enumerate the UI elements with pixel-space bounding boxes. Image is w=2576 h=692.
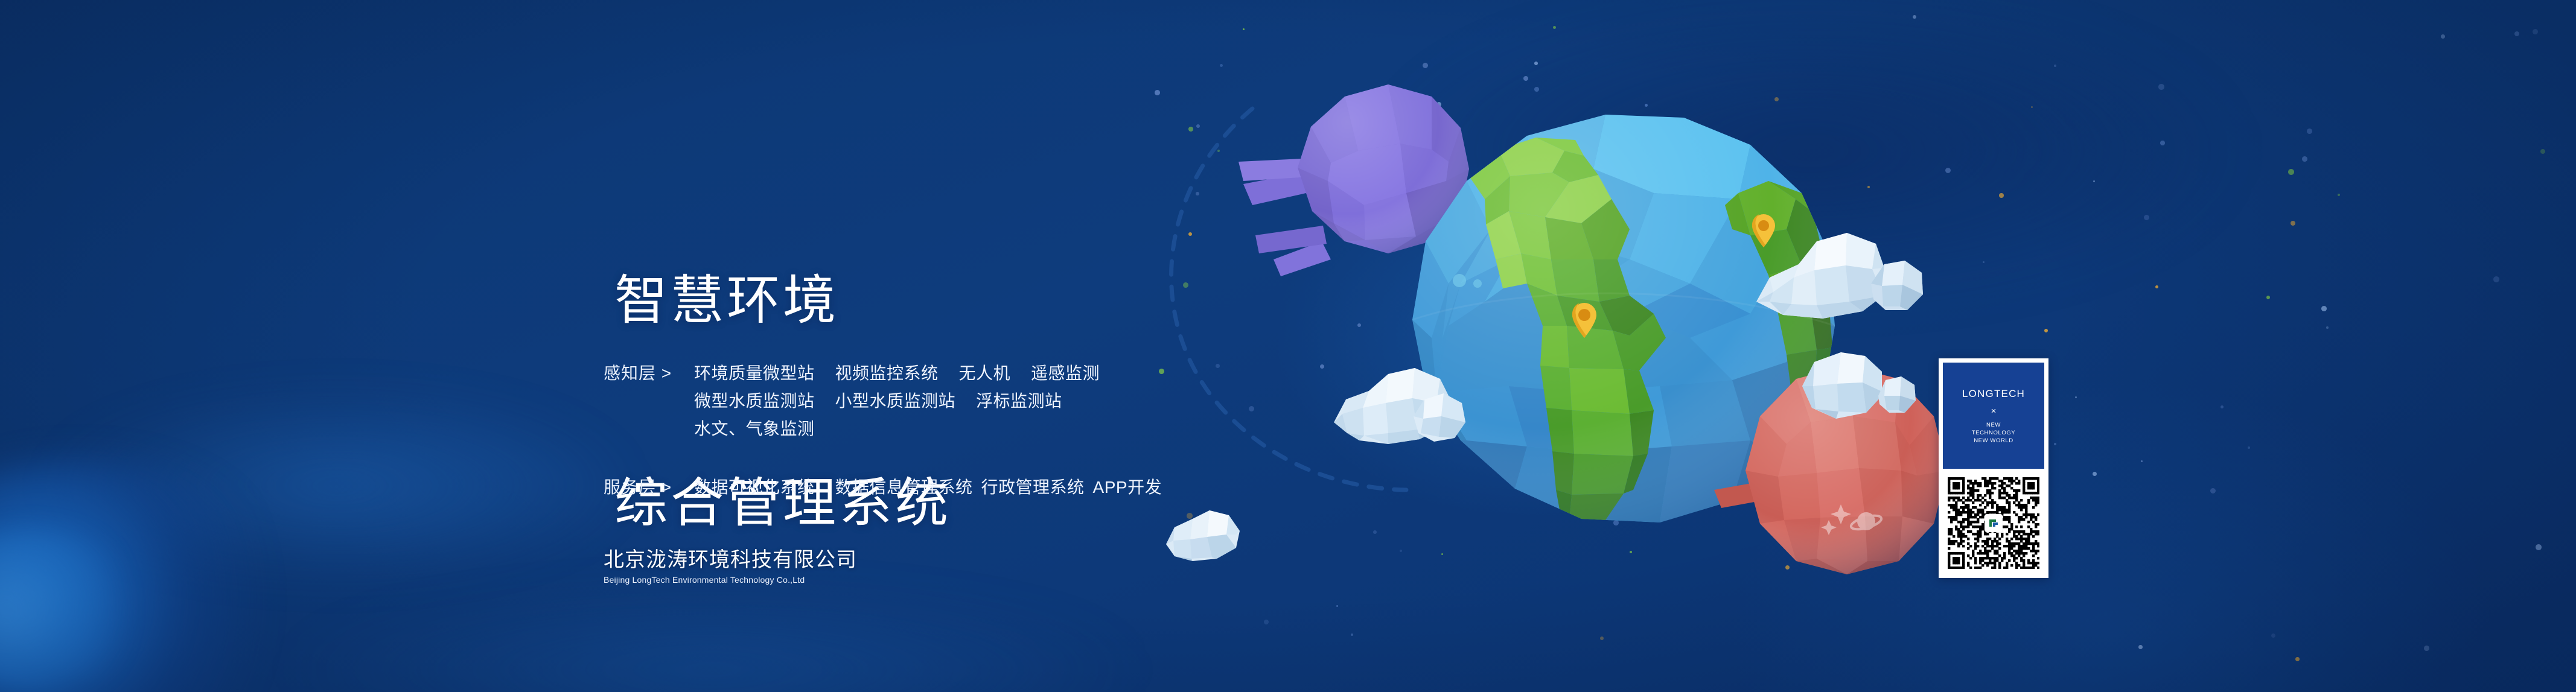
perception-item[interactable]: 无人机 — [959, 360, 1011, 387]
service-layer-key: 服务层 > — [604, 474, 694, 501]
brand-tagline-line1: NEW — [1972, 421, 2016, 429]
service-item[interactable]: 数据可视化系统 — [694, 474, 815, 501]
cloud-bottom — [1166, 510, 1240, 561]
service-item[interactable]: 数据信息管理系统 — [835, 474, 973, 501]
ocean-dot-large — [1453, 274, 1466, 287]
qr-code[interactable] — [1943, 472, 2044, 574]
cloud-right-lower — [1802, 352, 1916, 419]
qr-card[interactable]: LONGTECH × NEW TECHNOLOGY NEW WORLD — [1939, 358, 2048, 578]
perception-item[interactable]: 水文、气象监测 — [694, 415, 815, 443]
service-layer-line-1: 数据可视化系统 数据信息管理系统 行政管理系统 APP开发 — [694, 474, 1162, 501]
perception-layer-key: 感知层 > — [604, 360, 694, 387]
service-layer-block: 服务层 > 数据可视化系统 数据信息管理系统 行政管理系统 APP开发 — [604, 474, 1162, 501]
company-block: 北京泷涛环境科技有限公司 Beijing LongTech Environmen… — [604, 548, 857, 586]
perception-layer-block: 感知层 > 环境质量微型站 视频监控系统 无人机 遥感监测 微型水质监测站 小型… — [604, 360, 1100, 443]
perception-layer-line-1: 环境质量微型站 视频监控系统 无人机 遥感监测 — [694, 360, 1100, 387]
brand-tagline: NEW TECHNOLOGY NEW WORLD — [1972, 421, 2016, 445]
qr-card-brand-panel: LONGTECH × NEW TECHNOLOGY NEW WORLD — [1943, 363, 2044, 469]
perception-item[interactable]: 浮标监测站 — [976, 387, 1062, 415]
service-item[interactable]: 行政管理系统 — [981, 474, 1085, 501]
brand-tagline-line3: NEW WORLD — [1972, 437, 2016, 445]
space-illustration — [0, 0, 2576, 692]
perception-layer-items: 环境质量微型站 视频监控系统 无人机 遥感监测 微型水质监测站 小型水质监测站 … — [694, 360, 1100, 443]
service-item[interactable]: APP开发 — [1093, 474, 1162, 501]
perception-item[interactable]: 环境质量微型站 — [694, 360, 815, 387]
perception-layer-line-3: 水文、气象监测 — [694, 415, 1100, 443]
service-layer-items: 数据可视化系统 数据信息管理系统 行政管理系统 APP开发 — [694, 474, 1162, 501]
perception-item[interactable]: 微型水质监测站 — [694, 387, 815, 415]
qr-center-logo — [1985, 514, 2003, 532]
brand-tagline-line2: TECHNOLOGY — [1972, 429, 2016, 437]
perception-layer-line-2: 微型水质监测站 小型水质监测站 浮标监测站 — [694, 387, 1100, 415]
page-title-line1: 智慧环境 — [614, 267, 951, 334]
brand-name: LONGTECH — [1962, 387, 2025, 401]
hero-banner: 智慧环境 综合管理系统 感知层 > 环境质量微型站 视频监控系统 无人机 遥感监… — [0, 0, 2576, 692]
perception-item[interactable]: 视频监控系统 — [835, 360, 939, 387]
perception-item[interactable]: 遥感监测 — [1031, 360, 1100, 387]
longtech-logo-icon — [1988, 517, 2000, 529]
ocean-dot-small — [1473, 279, 1482, 288]
company-name-cn: 北京泷涛环境科技有限公司 — [604, 548, 857, 572]
company-name-en: Beijing LongTech Environmental Technolog… — [604, 574, 857, 586]
perception-item[interactable]: 小型水质监测站 — [835, 387, 956, 415]
cross-icon: × — [1991, 404, 1997, 419]
